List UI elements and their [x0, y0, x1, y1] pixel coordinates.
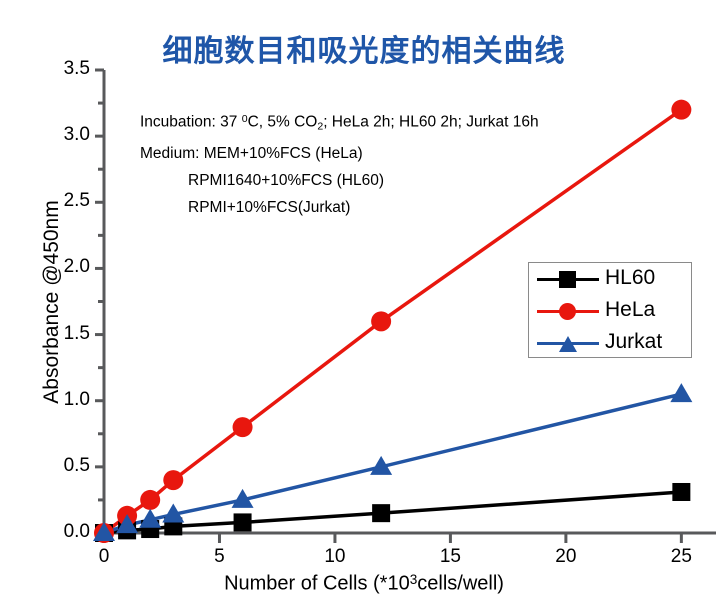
legend-sample-hl60: [537, 263, 599, 295]
legend-label-hl60: HL60: [605, 266, 655, 290]
annotation-incubation-mid: C, 5% CO: [248, 113, 318, 130]
y-tick-label: 0.0: [44, 521, 90, 543]
circle-marker-icon: [559, 303, 576, 320]
x-tick-label: 10: [312, 546, 358, 568]
y-tick-label: 0.5: [44, 455, 90, 477]
annotation-line-medium-hela: Medium: MEM+10%FCS (HeLa): [140, 140, 539, 167]
data-point-hela: [671, 100, 691, 120]
data-point-hl60: [234, 513, 252, 531]
y-axis-label: Absorbance @450nm: [40, 182, 64, 422]
data-point-hela: [140, 490, 160, 510]
x-tick-label: 25: [658, 546, 704, 568]
legend-sample-jurkat: [537, 327, 599, 359]
experiment-annotation: Incubation: 37 0C, 5% CO2; HeLa 2h; HL60…: [140, 106, 539, 221]
legend-sample-hela: [537, 295, 599, 327]
square-marker-icon: [559, 271, 576, 288]
x-axis-label-suffix: cells/well): [417, 573, 504, 595]
data-point-hela: [371, 311, 391, 331]
data-point-hela: [163, 470, 183, 490]
legend-item-hela[interactable]: HeLa: [529, 295, 693, 327]
x-axis-label-prefix: Number of Cells (*10: [224, 573, 410, 595]
legend: HL60 HeLa Jurkat: [528, 262, 692, 358]
legend-item-jurkat[interactable]: Jurkat: [529, 327, 693, 359]
data-point-hl60: [672, 483, 690, 501]
data-point-hela: [233, 417, 253, 437]
x-axis-label: Number of Cells (*103cells/well): [0, 572, 728, 596]
annotation-line-medium-jurkat: RPMI+10%FCS(Jurkat): [140, 194, 539, 221]
x-tick-label: 15: [427, 546, 473, 568]
y-tick-label: 3.0: [44, 124, 90, 146]
x-tick-label: 0: [81, 546, 127, 568]
x-tick-label: 20: [543, 546, 589, 568]
legend-item-hl60[interactable]: HL60: [529, 263, 693, 295]
annotation-incubation-prefix: Incubation: 37: [140, 113, 242, 130]
annotation-line-medium-hl60: RPMI1640+10%FCS (HL60): [140, 167, 539, 194]
x-tick-label: 5: [196, 546, 242, 568]
data-point-jurkat: [670, 383, 692, 402]
annotation-incubation-suffix: ; HeLa 2h; HL60 2h; Jurkat 16h: [323, 113, 538, 130]
data-point-hl60: [372, 504, 390, 522]
triangle-marker-icon: [559, 336, 577, 352]
legend-label-hela: HeLa: [605, 298, 655, 322]
legend-label-jurkat: Jurkat: [605, 330, 662, 354]
chart-figure: 细胞数目和吸光度的相关曲线 0.00.51.01.52.02.53.03.5 0…: [0, 0, 728, 605]
annotation-line-incubation: Incubation: 37 0C, 5% CO2; HeLa 2h; HL60…: [140, 106, 539, 140]
y-tick-label: 3.5: [44, 58, 90, 80]
